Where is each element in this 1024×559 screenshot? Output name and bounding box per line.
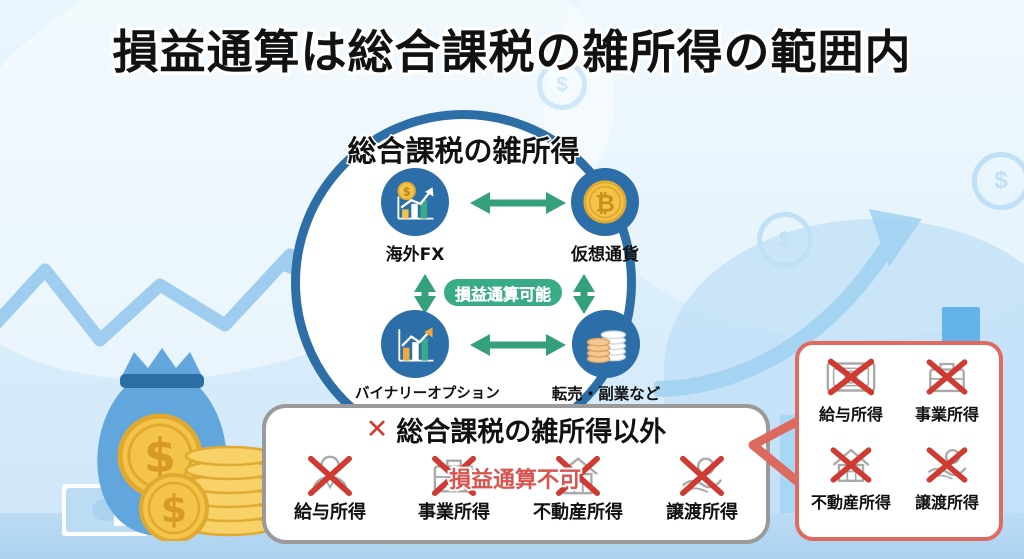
- offset-allowed-badge: 損益通算可能: [444, 279, 562, 306]
- detail-item-label: 事業所得: [899, 401, 995, 425]
- excluded-item-label: 不動産所得: [522, 498, 634, 524]
- fx-chart-coin-icon: $: [381, 168, 449, 236]
- excluded-item-salary[interactable]: 給与所得: [274, 452, 386, 524]
- detail-item-salary[interactable]: 給与所得: [803, 353, 899, 441]
- banknote-icon: [803, 353, 899, 401]
- double-arrow-vertical-icon: [571, 274, 597, 314]
- detail-item-realestate[interactable]: 不動産所得: [803, 441, 899, 529]
- excluded-box-heading-text: 総合課税の雑所得以外: [396, 410, 666, 449]
- bar-line-chart-icon: [381, 310, 449, 378]
- coin-stacks-icon: [572, 310, 640, 378]
- excluded-box-heading: ✕ 総合課税の雑所得以外: [262, 410, 770, 449]
- node-cryptocurrency[interactable]: ₿ 仮想通貨: [551, 168, 659, 265]
- ghost-coin-icon: $: [972, 152, 1024, 210]
- node-resale-sidejob[interactable]: 転売・副業など: [546, 310, 666, 404]
- cross-mark-icon: ✕: [366, 414, 389, 445]
- node-overseas-fx[interactable]: $ 海外FX: [361, 168, 469, 265]
- node-label: 仮想通貨: [551, 240, 659, 265]
- money-bag-illustration: $ $: [62, 336, 282, 541]
- handshake-icon: [899, 441, 995, 489]
- node-binary-option[interactable]: バイナリーオプション: [355, 310, 475, 403]
- page-title: 損益通算は総合課税の雑所得の範囲内: [0, 16, 1024, 82]
- offset-not-allowed-note: 損益通算不可: [430, 462, 600, 494]
- svg-text:$: $: [403, 186, 411, 199]
- node-label: 海外FX: [361, 240, 469, 265]
- house-icon: [803, 441, 899, 489]
- double-arrow-vertical-icon: [412, 274, 438, 314]
- svg-text:₿: ₿: [595, 190, 615, 218]
- node-label: 転売・副業など: [546, 382, 666, 404]
- detail-item-label: 譲渡所得: [899, 489, 995, 513]
- detail-item-transfer[interactable]: 譲渡所得: [899, 441, 995, 529]
- bitcoin-coin-icon: ₿: [571, 168, 639, 236]
- ghost-coin-icon: $: [757, 212, 813, 268]
- briefcase-icon: [899, 353, 995, 401]
- circle-heading: 総合課税の雑所得: [291, 128, 636, 170]
- svg-text:$: $: [161, 487, 187, 531]
- excluded-item-label: 事業所得: [398, 498, 510, 524]
- excluded-item-label: 給与所得: [274, 498, 386, 524]
- person-salary-icon: [274, 452, 386, 498]
- excluded-detail-box: 給与所得 事業所得: [795, 341, 1003, 541]
- detail-item-business[interactable]: 事業所得: [899, 353, 995, 441]
- detail-item-label: 不動産所得: [803, 489, 899, 513]
- node-label: バイナリーオプション: [355, 382, 475, 403]
- infographic-canvas: $ $ $ $ $ $ 損益通算は総合課税の雑所得の範囲内 総合課税の雑所得: [0, 0, 1024, 559]
- detail-item-label: 給与所得: [803, 401, 899, 425]
